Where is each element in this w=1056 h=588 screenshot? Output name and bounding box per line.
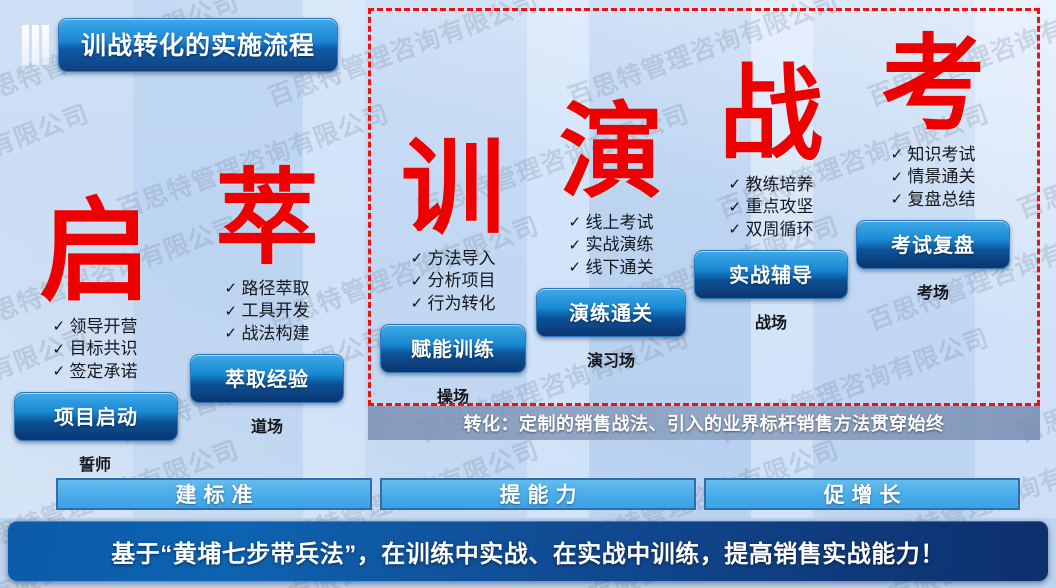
stage-action-button[interactable]: 项目启动 [14, 392, 178, 441]
checklist-item-label: 重点攻坚 [746, 196, 814, 218]
check-icon: ✓ [411, 249, 428, 269]
stage-venue-label: 战场 [690, 309, 852, 333]
stage-action-button[interactable]: 实战辅导 [694, 250, 848, 299]
checklist-item-label: 线上考试 [586, 212, 654, 234]
check-icon: ✓ [891, 168, 908, 188]
process-column: 战✓教练培养✓重点攻坚✓双周循环实战辅导战场 [690, 62, 852, 333]
checklist-item: ✓路径萃取 [225, 278, 310, 300]
checklist-item-label: 签定承诺 [70, 361, 138, 383]
stage-big-character: 启 [14, 196, 176, 308]
check-icon: ✓ [53, 317, 70, 337]
stage-big-character: 演 [530, 100, 692, 204]
checklist-item: ✓线上考试 [569, 212, 654, 234]
checklist-item: ✓双周循环 [729, 219, 814, 241]
check-icon: ✓ [53, 362, 70, 382]
stage-venue-label: 操场 [372, 383, 534, 407]
stage-big-character: 萃 [186, 166, 348, 270]
check-icon: ✓ [569, 236, 586, 256]
checklist-item: ✓行为转化 [411, 293, 496, 315]
checklist-item: ✓方法导入 [411, 248, 496, 270]
check-icon: ✓ [225, 302, 242, 322]
page-title: 训战转化的实施流程 [22, 18, 338, 72]
stage-big-character: 训 [372, 136, 534, 240]
stage-venue-label: 誓师 [14, 451, 176, 475]
checklist-item: ✓战法构建 [225, 323, 310, 345]
goal-bar-label: 建标准 [169, 479, 260, 509]
check-icon: ✓ [411, 272, 428, 292]
checklist: ✓路径萃取✓工具开发✓战法构建 [225, 278, 310, 345]
checklist-item-label: 实战演练 [586, 234, 654, 256]
checklist-item-label: 分析项目 [428, 270, 496, 292]
stage-action-button[interactable]: 考试复盘 [856, 220, 1010, 269]
checklist-item-label: 知识考试 [908, 144, 976, 166]
checklist-item-label: 战法构建 [242, 323, 310, 345]
check-icon: ✓ [729, 198, 746, 218]
checklist-item: ✓情景通关 [891, 166, 976, 188]
checklist: ✓领导开营✓目标共识✓签定承诺 [53, 316, 138, 383]
title-label: 训战转化的实施流程 [81, 32, 315, 60]
goal-bar[interactable]: 促增长 [704, 478, 1020, 510]
check-icon: ✓ [729, 175, 746, 195]
check-icon: ✓ [225, 279, 242, 299]
checklist: ✓方法导入✓分析项目✓行为转化 [411, 248, 496, 315]
checklist-item-label: 方法导入 [428, 248, 496, 270]
transform-banner: 转化：定制的销售战法、引入的业界标杆销售方法贯穿始终 [368, 406, 1040, 440]
goal-bar-label: 提能力 [493, 479, 584, 509]
checklist-item: ✓知识考试 [891, 144, 976, 166]
checklist-item: ✓领导开营 [53, 316, 138, 338]
checklist-item-label: 路径萃取 [242, 278, 310, 300]
checklist-item-label: 工具开发 [242, 300, 310, 322]
checklist-item: ✓工具开发 [225, 300, 310, 322]
checklist-item-label: 复盘总结 [908, 189, 976, 211]
transform-banner-label: 转化：定制的销售战法、引入的业界标杆销售方法贯穿始终 [464, 410, 945, 436]
checklist-item: ✓目标共识 [53, 338, 138, 360]
check-icon: ✓ [729, 220, 746, 240]
process-column: 启✓领导开营✓目标共识✓签定承诺项目启动誓师 [14, 196, 176, 475]
checklist: ✓教练培养✓重点攻坚✓双周循环 [729, 174, 814, 241]
checklist-item: ✓分析项目 [411, 270, 496, 292]
slide-canvas: 百思特管理咨询有限公司百思特管理咨询有限公司百思特管理咨询有限公司百思特管理咨询… [0, 0, 1056, 588]
slogan-banner: 基于“黄埔七步带兵法”，在训练中实战、在实战中训练，提高销售实战能力！ [8, 521, 1048, 581]
goal-bar-label: 促增长 [817, 479, 908, 509]
checklist-item: ✓实战演练 [569, 234, 654, 256]
slogan-label: 基于“黄埔七步带兵法”，在训练中实战、在实战中训练，提高销售实战能力！ [111, 534, 945, 569]
checklist-item-label: 行为转化 [428, 293, 496, 315]
checklist-item-label: 情景通关 [908, 166, 976, 188]
checklist-item: ✓线下通关 [569, 257, 654, 279]
stage-action-button[interactable]: 萃取经验 [190, 354, 344, 403]
checklist: ✓知识考试✓情景通关✓复盘总结 [891, 144, 976, 211]
stage-action-button[interactable]: 演练通关 [536, 288, 686, 337]
title-badge: 训战转化的实施流程 [58, 18, 338, 72]
checklist: ✓线上考试✓实战演练✓线下通关 [569, 212, 654, 279]
checklist-item-label: 目标共识 [70, 338, 138, 360]
stage-big-character: 战 [690, 62, 852, 166]
stage-big-character: 考 [852, 32, 1014, 136]
process-column: 萃✓路径萃取✓工具开发✓战法构建萃取经验道场 [186, 166, 348, 437]
check-icon: ✓ [891, 145, 908, 165]
checklist-item-label: 双周循环 [746, 219, 814, 241]
process-column: 考✓知识考试✓情景通关✓复盘总结考试复盘考场 [852, 32, 1014, 303]
checklist-item: ✓复盘总结 [891, 189, 976, 211]
three-bars-icon [22, 25, 49, 65]
check-icon: ✓ [891, 190, 908, 210]
checklist-item: ✓教练培养 [729, 174, 814, 196]
stage-venue-label: 演习场 [530, 347, 692, 371]
stage-venue-label: 考场 [852, 279, 1014, 303]
stage-venue-label: 道场 [186, 413, 348, 437]
stage-action-button[interactable]: 赋能训练 [380, 324, 526, 373]
checklist-item: ✓重点攻坚 [729, 196, 814, 218]
check-icon: ✓ [569, 213, 586, 233]
checklist-item-label: 线下通关 [586, 257, 654, 279]
process-column: 训✓方法导入✓分析项目✓行为转化赋能训练操场 [372, 136, 534, 407]
checklist-item: ✓签定承诺 [53, 361, 138, 383]
check-icon: ✓ [411, 294, 428, 314]
check-icon: ✓ [569, 258, 586, 278]
goal-bar[interactable]: 建标准 [56, 478, 372, 510]
check-icon: ✓ [53, 340, 70, 360]
checklist-item-label: 教练培养 [746, 174, 814, 196]
process-column: 演✓线上考试✓实战演练✓线下通关演练通关演习场 [530, 100, 692, 371]
check-icon: ✓ [225, 324, 242, 344]
goal-bar[interactable]: 提能力 [380, 478, 696, 510]
checklist-item-label: 领导开营 [70, 316, 138, 338]
